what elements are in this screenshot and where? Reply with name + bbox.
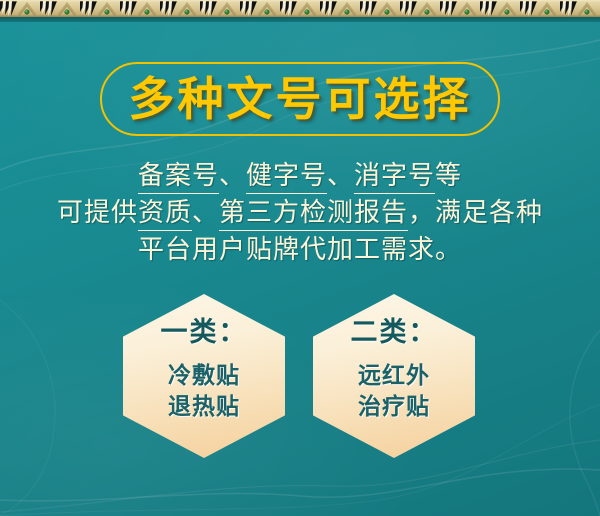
hex-one-item-2: 退热贴 bbox=[168, 391, 240, 422]
desc-tail-1: 等 bbox=[435, 161, 462, 191]
hex-category-one[interactable]: 一类： 冷敷贴 退热贴 bbox=[123, 294, 285, 458]
hex-one-item-1: 冷敷贴 bbox=[168, 360, 240, 391]
desc-line-3-text: 平台用户贴牌代加工需求。 bbox=[138, 235, 462, 265]
desc-lead-2: 可提供 bbox=[57, 198, 138, 228]
desc-sep-2: 、 bbox=[327, 161, 354, 191]
hex-one-title: 一类： bbox=[161, 316, 248, 350]
desc-tail-2: ，满足各种 bbox=[408, 198, 543, 228]
hex-one-content: 一类： 冷敷贴 退热贴 bbox=[123, 294, 285, 458]
description-line-1: 备案号、健字号、消字号等 bbox=[0, 158, 600, 195]
desc-term-thirdparty-report: 第三方检测报告 bbox=[219, 198, 408, 231]
hex-two-content: 二类： 远红外 治疗贴 bbox=[313, 294, 475, 458]
poster-root: 多种文号可选择 备案号、健字号、消字号等 可提供资质、第三方检测报告，满足各种 … bbox=[0, 0, 600, 516]
desc-term-zizhi: 资质 bbox=[138, 198, 192, 231]
hex-two-item-1: 远红外 bbox=[358, 360, 430, 391]
description-line-2: 可提供资质、第三方检测报告，满足各种 bbox=[0, 195, 600, 232]
desc-term-jianzi: 健字号 bbox=[246, 161, 327, 194]
desc-term-beian: 备案号 bbox=[138, 161, 219, 194]
hex-two-title: 二类： bbox=[351, 316, 438, 350]
top-ornament-band bbox=[0, 0, 600, 17]
page-title: 多种文号可选择 bbox=[0, 64, 600, 134]
description-block: 备案号、健字号、消字号等 可提供资质、第三方检测报告，满足各种 平台用户贴牌代加… bbox=[0, 158, 600, 269]
hex-one-items: 冷敷贴 退热贴 bbox=[168, 360, 240, 422]
hex-two-items: 远红外 治疗贴 bbox=[358, 360, 430, 422]
description-line-3: 平台用户贴牌代加工需求。 bbox=[0, 232, 600, 269]
hex-two-item-2: 治疗贴 bbox=[358, 391, 430, 422]
hex-category-two[interactable]: 二类： 远红外 治疗贴 bbox=[313, 294, 475, 458]
desc-sep-1: 、 bbox=[219, 161, 246, 191]
desc-term-xiaozi: 消字号 bbox=[354, 161, 435, 194]
band-underline-strip bbox=[0, 17, 600, 22]
ornament-pattern-icon bbox=[0, 0, 600, 17]
desc-sep-3: 、 bbox=[192, 198, 219, 228]
